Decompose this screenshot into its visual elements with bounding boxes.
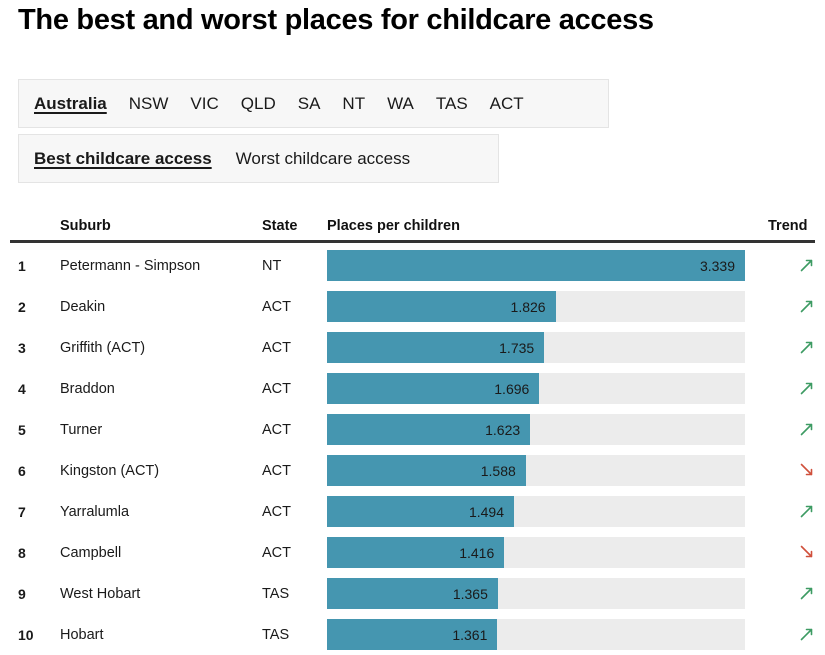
cell-rank: 5 [18,422,26,438]
bar-fill: 1.696 [327,373,539,404]
trend-up-icon [798,256,818,276]
cell-suburb: Kingston (ACT) [60,463,159,479]
header-divider [10,240,815,243]
bar-track: 1.361 [327,619,745,650]
tab-region-vic[interactable]: VIC [190,92,218,116]
bar-track: 1.365 [327,578,745,609]
cell-state: ACT [262,422,291,438]
bar-value-label: 1.623 [485,422,530,438]
tab-region-nt[interactable]: NT [342,92,365,116]
page-title: The best and worst places for childcare … [18,4,654,37]
bar-value-label: 1.588 [481,463,526,479]
bar-track: 1.494 [327,496,745,527]
column-header-suburb: Suburb [60,218,111,234]
cell-state: ACT [262,463,291,479]
cell-suburb: Turner [60,422,102,438]
bar-value-label: 1.494 [469,504,514,520]
cell-rank: 3 [18,340,26,356]
tab-region-nsw[interactable]: NSW [129,92,169,116]
bar-value-label: 1.696 [494,381,539,397]
bar-fill: 1.361 [327,619,497,650]
bar-value-label: 1.416 [459,545,504,561]
cell-state: TAS [262,627,289,643]
cell-state: ACT [262,504,291,520]
bar-value-label: 1.735 [499,340,544,356]
cell-state: NT [262,258,281,274]
table-row[interactable]: 7YarralumlaACT1.494 [0,491,825,532]
bar-value-label: 1.361 [452,627,497,643]
region-tabstrip: AustraliaNSWVICQLDSANTWATASACT [18,79,609,128]
bar-fill: 1.416 [327,537,504,568]
tab-mode-worst-childcare-access[interactable]: Worst childcare access [236,147,410,171]
trend-up-icon [798,379,818,399]
mode-tabstrip: Best childcare accessWorst childcare acc… [18,134,499,183]
table-row[interactable]: 2DeakinACT1.826 [0,286,825,327]
table-row[interactable]: 9West HobartTAS1.365 [0,573,825,614]
bar-track: 1.588 [327,455,745,486]
cell-suburb: Griffith (ACT) [60,340,145,356]
cell-suburb: Deakin [60,299,105,315]
table-body: 1Petermann - SimpsonNT3.3392DeakinACT1.8… [0,245,825,655]
trend-up-icon [798,502,818,522]
bar-fill: 3.339 [327,250,745,281]
cell-rank: 4 [18,381,26,397]
cell-rank: 1 [18,258,26,274]
bar-value-label: 1.826 [511,299,556,315]
cell-rank: 6 [18,463,26,479]
column-header-state: State [262,218,297,234]
column-header-trend: Trend [768,218,807,234]
bar-value-label: 3.339 [700,258,745,274]
cell-rank: 2 [18,299,26,315]
bar-fill: 1.365 [327,578,498,609]
trend-up-icon [798,297,818,317]
cell-suburb: Hobart [60,627,104,643]
trend-down-icon [798,461,818,481]
cell-rank: 9 [18,586,26,602]
bar-fill: 1.826 [327,291,556,322]
trend-up-icon [798,584,818,604]
table-row[interactable]: 5TurnerACT1.623 [0,409,825,450]
tab-region-wa[interactable]: WA [387,92,414,116]
column-header-places: Places per children [327,218,460,234]
tab-region-qld[interactable]: QLD [241,92,276,116]
trend-down-icon [798,543,818,563]
bar-track: 1.696 [327,373,745,404]
tab-region-australia[interactable]: Australia [34,92,107,116]
bar-track: 1.623 [327,414,745,445]
cell-state: ACT [262,381,291,397]
trend-up-icon [798,338,818,358]
bar-track: 3.339 [327,250,745,281]
cell-state: ACT [262,299,291,315]
table-header-row: Suburb State Places per children Trend [0,210,825,240]
ranking-table: Suburb State Places per children Trend 1… [0,210,825,655]
table-row[interactable]: 8CampbellACT1.416 [0,532,825,573]
cell-rank: 7 [18,504,26,520]
tab-region-act[interactable]: ACT [490,92,524,116]
trend-up-icon [798,625,818,645]
trend-up-icon [798,420,818,440]
tab-region-sa[interactable]: SA [298,92,321,116]
table-row[interactable]: 6Kingston (ACT)ACT1.588 [0,450,825,491]
cell-suburb: Yarralumla [60,504,129,520]
bar-fill: 1.735 [327,332,544,363]
cell-suburb: Campbell [60,545,121,561]
cell-rank: 10 [18,627,34,643]
table-row[interactable]: 3Griffith (ACT)ACT1.735 [0,327,825,368]
bar-value-label: 1.365 [453,586,498,602]
bar-track: 1.826 [327,291,745,322]
bar-fill: 1.494 [327,496,514,527]
cell-state: ACT [262,340,291,356]
cell-rank: 8 [18,545,26,561]
bar-track: 1.416 [327,537,745,568]
table-row[interactable]: 10HobartTAS1.361 [0,614,825,655]
bar-fill: 1.588 [327,455,526,486]
cell-suburb: Petermann - Simpson [60,258,200,274]
bar-track: 1.735 [327,332,745,363]
tab-region-tas[interactable]: TAS [436,92,468,116]
table-row[interactable]: 4BraddonACT1.696 [0,368,825,409]
tab-mode-best-childcare-access[interactable]: Best childcare access [34,147,212,171]
cell-suburb: Braddon [60,381,115,397]
bar-fill: 1.623 [327,414,530,445]
cell-state: ACT [262,545,291,561]
table-row[interactable]: 1Petermann - SimpsonNT3.339 [0,245,825,286]
cell-suburb: West Hobart [60,586,140,602]
cell-state: TAS [262,586,289,602]
